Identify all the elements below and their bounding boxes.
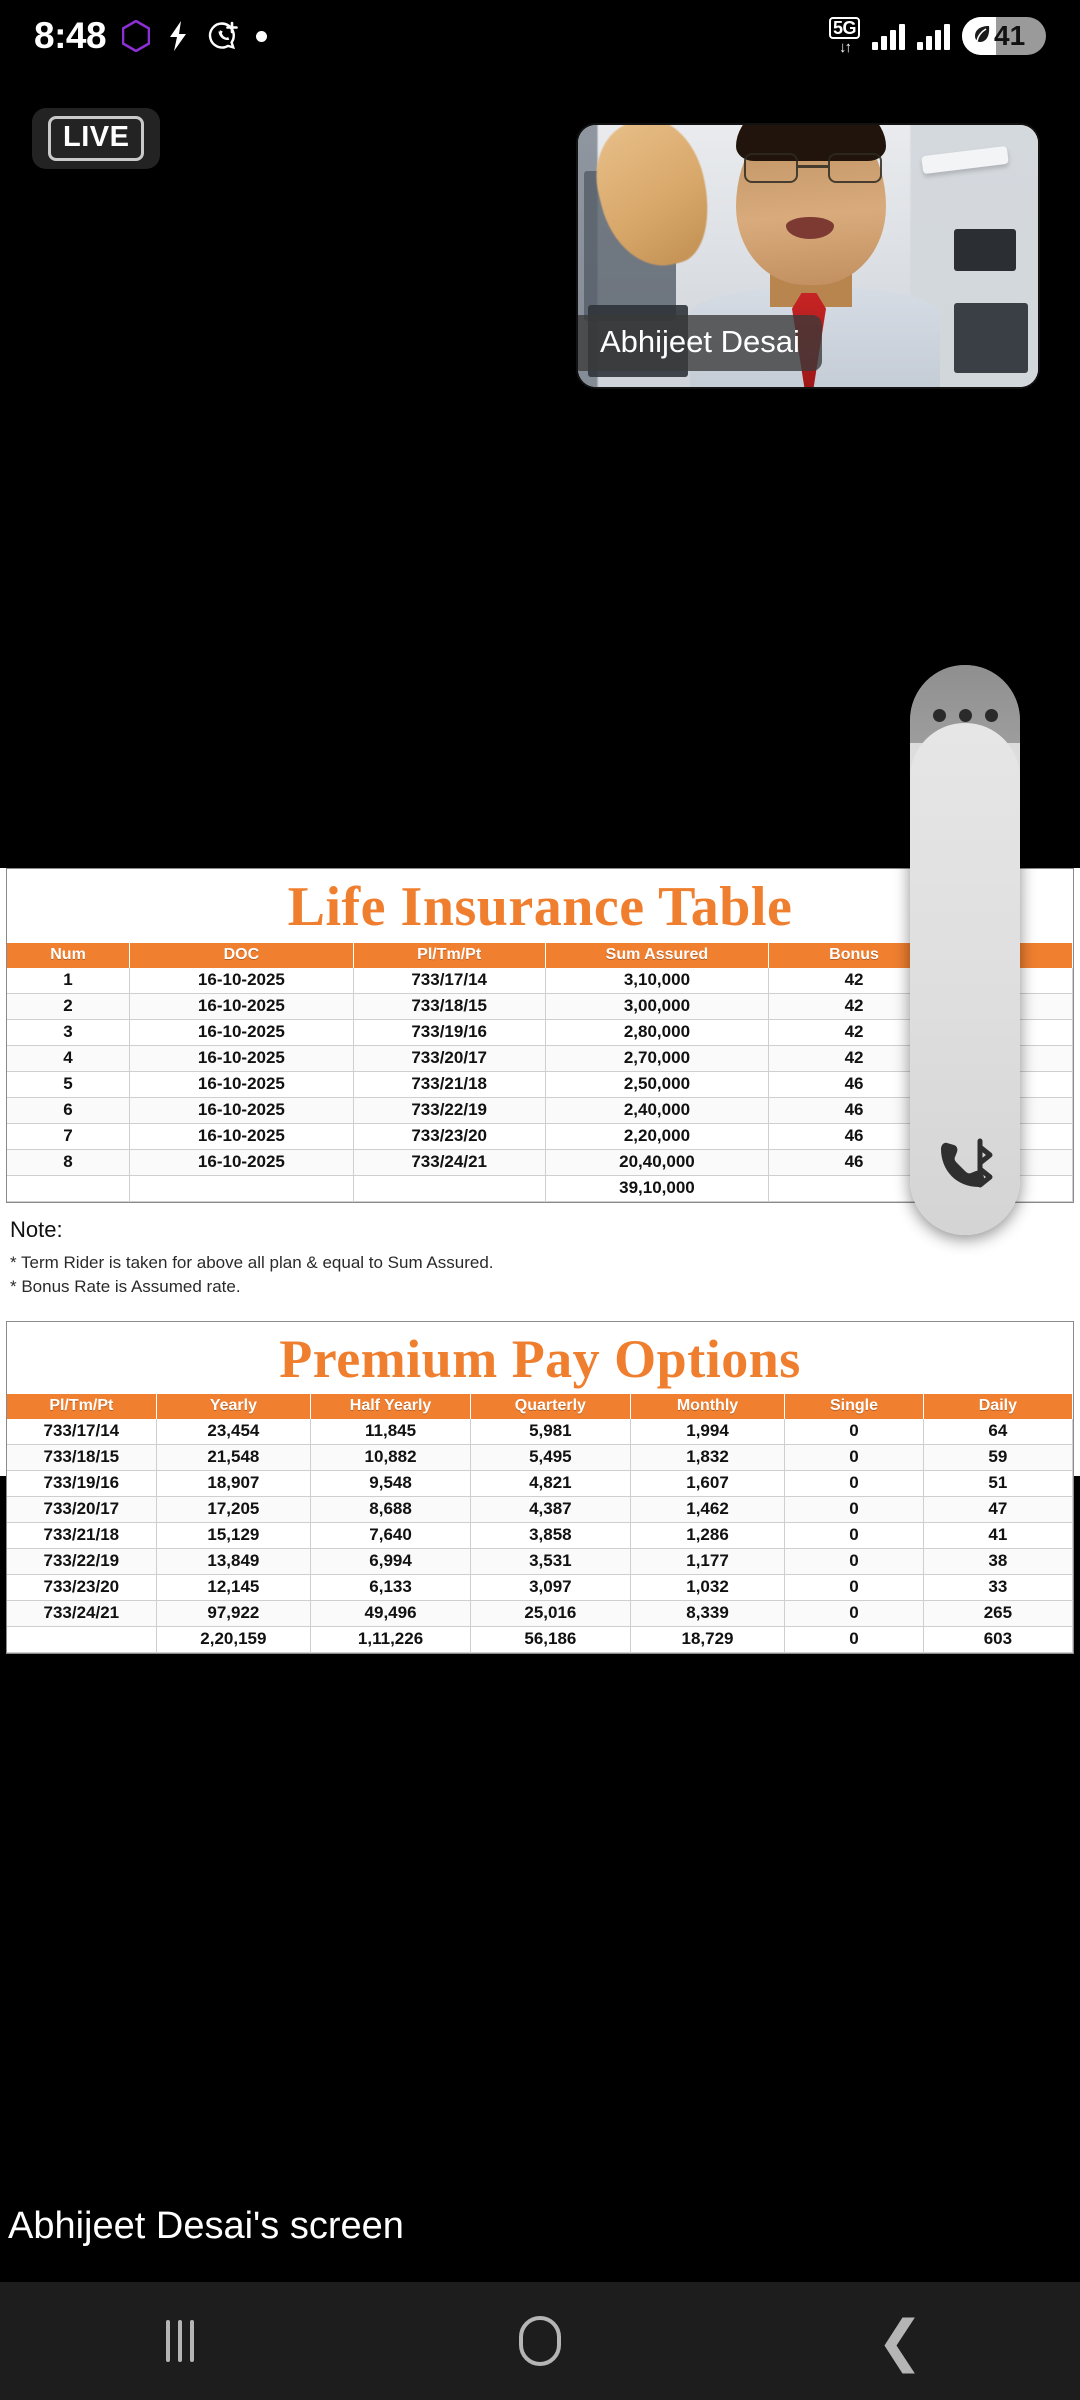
table-cell: 733/18/15: [353, 994, 545, 1020]
table-row: 733/20/1717,2058,6884,3871,462047: [7, 1497, 1073, 1523]
table-row: 733/21/1815,1297,6403,8581,286041: [7, 1523, 1073, 1549]
table-cell: [353, 1176, 545, 1202]
table-cell: 9,548: [311, 1471, 471, 1497]
table-cell: 0: [785, 1419, 924, 1445]
table-cell: 1: [7, 968, 130, 994]
table-row: 733/23/2012,1456,1333,0971,032033: [7, 1575, 1073, 1601]
participant-video-tile[interactable]: Abhijeet Desai: [578, 125, 1038, 387]
home-button[interactable]: [360, 2282, 720, 2400]
more-options-icon[interactable]: [910, 709, 1020, 722]
table-cell: 4: [7, 1046, 130, 1072]
bluetooth-phone-icon[interactable]: [910, 1137, 1020, 1195]
table-cell: 733/23/20: [353, 1124, 545, 1150]
table-cell: 16-10-2025: [130, 1072, 354, 1098]
column-header: Pl/Tm/Pt: [353, 943, 545, 968]
table-cell: 17,205: [156, 1497, 310, 1523]
table-cell: 733/24/21: [353, 1150, 545, 1176]
table-cell: 4,821: [470, 1471, 630, 1497]
person-glasses: [740, 153, 886, 183]
table-cell: 20,40,000: [545, 1150, 769, 1176]
dot-icon: [256, 31, 267, 42]
table-cell: 1,994: [630, 1419, 784, 1445]
background-shelf: [954, 303, 1028, 373]
table-cell: 0: [785, 1445, 924, 1471]
column-header: Monthly: [630, 1394, 784, 1419]
table-cell: 733/17/14: [7, 1419, 156, 1445]
recents-icon: [166, 2320, 194, 2362]
table-cell: 1,462: [630, 1497, 784, 1523]
premium-pay-options-title: Premium Pay Options: [7, 1322, 1073, 1394]
power-saving-leaf-icon: [971, 23, 993, 50]
column-header: Half Yearly: [311, 1394, 471, 1419]
table-cell: 3,858: [470, 1523, 630, 1549]
table-cell: 23,454: [156, 1419, 310, 1445]
table-cell: 47: [923, 1497, 1072, 1523]
table-cell: 733/18/15: [7, 1445, 156, 1471]
table-cell: 3,00,000: [545, 994, 769, 1020]
column-header: Quarterly: [470, 1394, 630, 1419]
table-cell: 265: [923, 1601, 1072, 1627]
column-header: Sum Assured: [545, 943, 769, 968]
column-header: DOC: [130, 943, 354, 968]
column-header: Yearly: [156, 1394, 310, 1419]
table-cell: 6,994: [311, 1549, 471, 1575]
note-heading: Note:: [10, 1217, 1070, 1243]
signal-sim1-icon: [872, 22, 905, 50]
table-cell: 16-10-2025: [130, 1046, 354, 1072]
table-header-row: Pl/Tm/PtYearlyHalf YearlyQuarterlyMonthl…: [7, 1394, 1073, 1419]
table-cell: 5,981: [470, 1419, 630, 1445]
table-cell: 2,70,000: [545, 1046, 769, 1072]
table-cell: 0: [785, 1627, 924, 1653]
table-cell: 733/17/14: [353, 968, 545, 994]
table-cell: 15,129: [156, 1523, 310, 1549]
hexagon-icon: [122, 20, 150, 52]
note-line: * Bonus Rate is Assumed rate.: [10, 1277, 1070, 1297]
table-cell: 2,40,000: [545, 1098, 769, 1124]
table-cell: 0: [785, 1471, 924, 1497]
table-cell: 733/24/21: [7, 1601, 156, 1627]
background-monitor: [954, 229, 1016, 271]
table-row: 733/19/1618,9079,5484,8211,607051: [7, 1471, 1073, 1497]
table-cell: 11,845: [311, 1419, 471, 1445]
table-cell: 733/20/17: [7, 1497, 156, 1523]
table-cell: 56,186: [470, 1627, 630, 1653]
table-cell: 4,387: [470, 1497, 630, 1523]
table-cell: 16-10-2025: [130, 968, 354, 994]
table-cell: 12,145: [156, 1575, 310, 1601]
table-cell: 0: [785, 1523, 924, 1549]
table-row: 733/22/1913,8496,9943,5311,177038: [7, 1549, 1073, 1575]
status-bar-right: 5G ↓↑ 41: [829, 17, 1046, 55]
table-cell: 2,20,159: [156, 1627, 310, 1653]
floating-call-controls[interactable]: [910, 665, 1020, 1235]
home-icon: [519, 2316, 561, 2366]
table-cell: 33: [923, 1575, 1072, 1601]
table-cell: 64: [923, 1419, 1072, 1445]
table-cell: 733/22/19: [7, 1549, 156, 1575]
table-cell: 39,10,000: [545, 1176, 769, 1202]
table-row: 733/18/1521,54810,8825,4951,832059: [7, 1445, 1073, 1471]
table-cell: 733/20/17: [353, 1046, 545, 1072]
table-cell: 3: [7, 1020, 130, 1046]
table-cell: [7, 1176, 130, 1202]
table-cell: 16-10-2025: [130, 1098, 354, 1124]
battery-indicator: 41: [962, 17, 1046, 55]
table-cell: 51: [923, 1471, 1072, 1497]
premium-pay-options-table: Pl/Tm/PtYearlyHalf YearlyQuarterlyMonthl…: [7, 1394, 1073, 1653]
phone-screen: 8:48 5G ↓↑: [0, 0, 1080, 2400]
table-cell: 3,10,000: [545, 968, 769, 994]
table-cell: 97,922: [156, 1601, 310, 1627]
note-section: Note: * Term Rider is taken for above al…: [0, 1203, 1080, 1305]
back-chevron-icon: ❮: [877, 2313, 924, 2369]
table-row: 733/17/1423,45411,8455,9811,994064: [7, 1419, 1073, 1445]
table-cell: 0: [785, 1601, 924, 1627]
table-cell: 2,20,000: [545, 1124, 769, 1150]
table-cell: 7,640: [311, 1523, 471, 1549]
battery-percent: 41: [994, 20, 1025, 52]
table-cell: 8,339: [630, 1601, 784, 1627]
table-cell: [7, 1627, 156, 1653]
table-cell: 16-10-2025: [130, 1124, 354, 1150]
column-header: Single: [785, 1394, 924, 1419]
table-cell: 21,548: [156, 1445, 310, 1471]
table-cell: 2,80,000: [545, 1020, 769, 1046]
table-cell: 1,11,226: [311, 1627, 471, 1653]
table-cell: 10,882: [311, 1445, 471, 1471]
table-cell: 2: [7, 994, 130, 1020]
android-nav-bar: ❮: [0, 2282, 1080, 2400]
screen-share-label: Abhijeet Desai's screen: [8, 2205, 404, 2248]
column-header: Pl/Tm/Pt: [7, 1394, 156, 1419]
table-total-row: 2,20,1591,11,22656,18618,7290603: [7, 1627, 1073, 1653]
table-cell: 733/19/16: [353, 1020, 545, 1046]
premium-pay-options-card: Premium Pay Options Pl/Tm/PtYearlyHalf Y…: [6, 1321, 1074, 1654]
table-cell: 733/22/19: [353, 1098, 545, 1124]
table-cell: [130, 1176, 354, 1202]
live-badge: LIVE: [32, 108, 160, 169]
table-cell: 3,097: [470, 1575, 630, 1601]
network-5g-icon: 5G ↓↑: [829, 17, 860, 55]
column-header: Daily: [923, 1394, 1072, 1419]
table-cell: 16-10-2025: [130, 1150, 354, 1176]
table-cell: 16-10-2025: [130, 1020, 354, 1046]
participant-name-label: Abhijeet Desai: [578, 315, 822, 371]
status-bar: 8:48 5G ↓↑: [0, 0, 1080, 72]
table-cell: 1,286: [630, 1523, 784, 1549]
table-cell: 13,849: [156, 1549, 310, 1575]
table-cell: 733/21/18: [7, 1523, 156, 1549]
table-row: 733/24/2197,92249,49625,0168,3390265: [7, 1601, 1073, 1627]
status-bar-left: 8:48: [34, 15, 267, 57]
column-header: Num: [7, 943, 130, 968]
table-cell: 0: [785, 1497, 924, 1523]
table-cell: 1,607: [630, 1471, 784, 1497]
recents-button[interactable]: [0, 2282, 360, 2400]
table-cell: 25,016: [470, 1601, 630, 1627]
table-cell: 8,688: [311, 1497, 471, 1523]
table-cell: 6: [7, 1098, 130, 1124]
table-cell: 1,032: [630, 1575, 784, 1601]
table-cell: 2,50,000: [545, 1072, 769, 1098]
table-cell: 1,832: [630, 1445, 784, 1471]
whatsapp-add-icon: [206, 19, 240, 53]
table-cell: 18,729: [630, 1627, 784, 1653]
table-cell: 6,133: [311, 1575, 471, 1601]
bolt-icon: [166, 20, 190, 52]
clock: 8:48: [34, 15, 106, 57]
note-line: * Term Rider is taken for above all plan…: [10, 1253, 1070, 1273]
table-cell: 3,531: [470, 1549, 630, 1575]
table-cell: 59: [923, 1445, 1072, 1471]
table-cell: 0: [785, 1549, 924, 1575]
table-cell: 733/21/18: [353, 1072, 545, 1098]
table-cell: 5: [7, 1072, 130, 1098]
table-cell: 1,177: [630, 1549, 784, 1575]
table-cell: 18,907: [156, 1471, 310, 1497]
table-cell: 603: [923, 1627, 1072, 1653]
table-cell: 0: [785, 1575, 924, 1601]
table-cell: 38: [923, 1549, 1072, 1575]
table-cell: 733/19/16: [7, 1471, 156, 1497]
signal-sim2-icon: [917, 22, 950, 50]
table-cell: 733/23/20: [7, 1575, 156, 1601]
table-cell: 41: [923, 1523, 1072, 1549]
table-cell: 5,495: [470, 1445, 630, 1471]
back-button[interactable]: ❮: [720, 2282, 1080, 2400]
table-cell: 49,496: [311, 1601, 471, 1627]
table-cell: 16-10-2025: [130, 994, 354, 1020]
table-cell: 7: [7, 1124, 130, 1150]
table-cell: 8: [7, 1150, 130, 1176]
live-badge-label: LIVE: [48, 116, 144, 161]
